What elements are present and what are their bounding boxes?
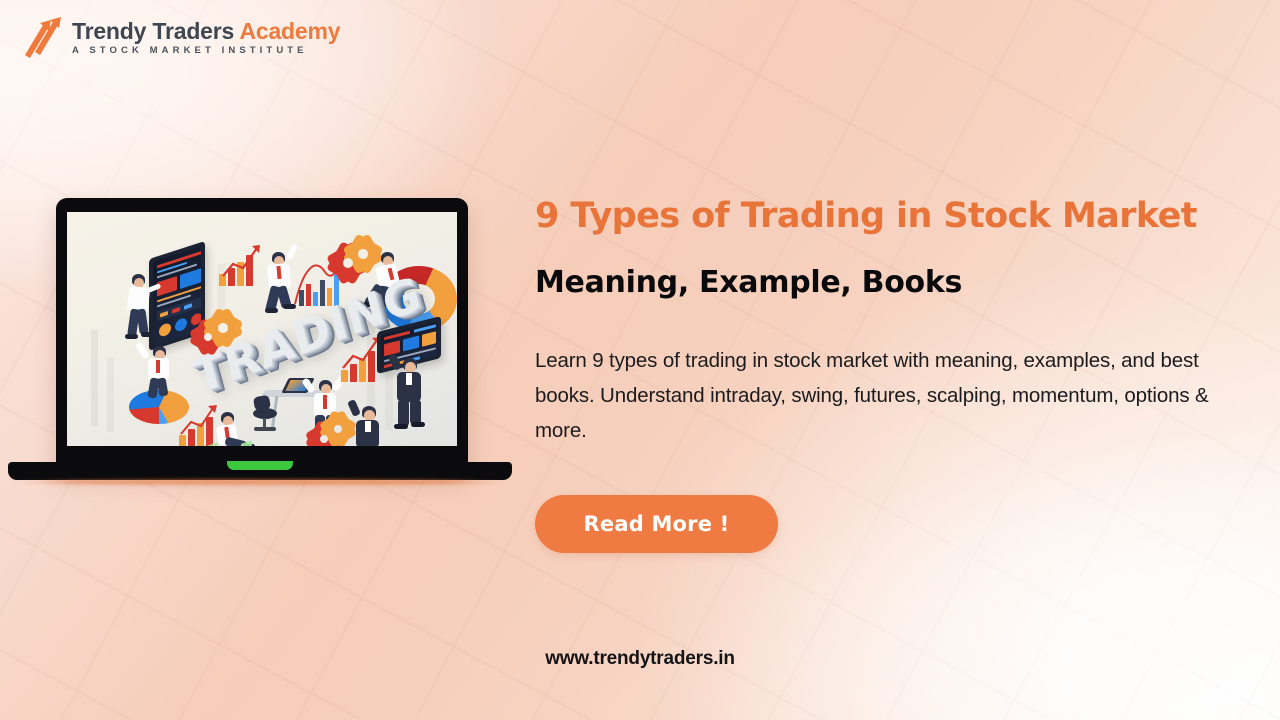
gear-icon bbox=[327, 418, 349, 440]
page-description: Learn 9 types of trading in stock market… bbox=[535, 343, 1241, 449]
laptop-lid: TRADING bbox=[56, 198, 468, 470]
laptop-illustration: TRADING bbox=[8, 198, 512, 490]
brand-name: Trendy Traders Academy bbox=[72, 20, 340, 43]
illustration-person bbox=[389, 352, 429, 428]
brand-tagline: A STOCK MARKET INSTITUTE bbox=[72, 46, 340, 56]
illustration-person bbox=[349, 400, 387, 446]
brand-logo[interactable]: Trendy Traders Academy A STOCK MARKET IN… bbox=[18, 14, 340, 60]
office-chair-icon bbox=[253, 398, 279, 436]
gear-icon bbox=[211, 316, 235, 340]
illustration-person bbox=[139, 338, 177, 398]
illustration-person bbox=[123, 274, 157, 344]
page-title: 9 Types of Trading in Stock Market bbox=[535, 196, 1245, 236]
page-subtitle: Meaning, Example, Books bbox=[535, 266, 1245, 301]
dual-arrow-up-icon bbox=[18, 14, 62, 60]
brand-name-primary: Trendy Traders bbox=[72, 18, 234, 44]
laptop-screen: TRADING bbox=[67, 212, 457, 446]
promo-banner: Trendy Traders Academy A STOCK MARKET IN… bbox=[0, 0, 1280, 720]
bar-chart-icon bbox=[219, 254, 259, 286]
bar-chart-icon bbox=[341, 350, 381, 382]
read-more-button[interactable]: Read More ! bbox=[535, 495, 778, 553]
laptop-notch-indicator bbox=[227, 461, 293, 470]
brand-name-accent: Academy bbox=[239, 18, 340, 44]
laptop-shadow bbox=[12, 479, 508, 485]
brand-text: Trendy Traders Academy A STOCK MARKET IN… bbox=[72, 18, 340, 56]
bar-chart-icon bbox=[179, 416, 217, 446]
website-url[interactable]: www.trendytraders.in bbox=[0, 648, 1280, 670]
content-column: 9 Types of Trading in Stock Market Meani… bbox=[535, 196, 1245, 553]
